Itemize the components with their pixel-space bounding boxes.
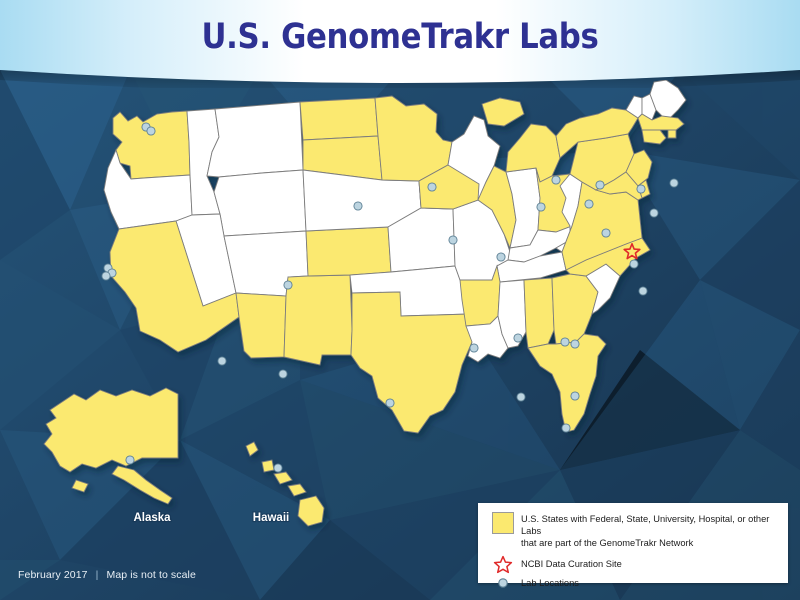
state-rhode-island[interactable] — [668, 130, 676, 138]
lab-location-dot[interactable] — [470, 344, 478, 352]
legend-labs-label: Lab Locations — [518, 576, 579, 590]
lab-location-dot[interactable] — [637, 185, 645, 193]
legend-states-line2: that are part of the GenomeTrakr Network — [521, 538, 693, 548]
footer-caption: February 2017 | Map is not to scale — [18, 569, 196, 581]
lab-location-dot[interactable] — [517, 393, 525, 401]
red-star-icon — [488, 555, 518, 574]
lab-location-dot[interactable] — [552, 176, 560, 184]
label-alaska: Alaska — [133, 512, 171, 524]
state-florida[interactable] — [528, 334, 606, 432]
state-alabama[interactable] — [524, 278, 554, 348]
header-banner: U.S. GenomeTrakr Labs — [0, 0, 800, 88]
lab-location-dot[interactable] — [571, 392, 579, 400]
lab-location-dot[interactable] — [449, 236, 457, 244]
lab-location-dot[interactable] — [428, 183, 436, 191]
lab-location-dot[interactable] — [602, 229, 610, 237]
legend-item-ncbi: NCBI Data Curation Site — [478, 550, 788, 574]
us-map: Alaska Hawaii — [0, 80, 800, 550]
lab-location-dot[interactable] — [596, 181, 604, 189]
state-shapes — [44, 80, 686, 526]
state-north-dakota[interactable] — [300, 98, 378, 140]
lab-location-dot[interactable] — [630, 260, 638, 268]
state-massachusetts[interactable] — [638, 114, 684, 130]
state-colorado[interactable] — [306, 227, 391, 276]
page-title: U.S. GenomeTrakr Labs — [48, 17, 752, 57]
state-arizona[interactable] — [236, 293, 286, 358]
lab-location-dot[interactable] — [571, 340, 579, 348]
state-wyoming[interactable] — [214, 170, 306, 236]
lab-location-dot[interactable] — [639, 287, 647, 295]
label-hawaii: Hawaii — [253, 512, 289, 524]
lab-location-dot[interactable] — [497, 253, 505, 261]
lab-location-dot[interactable] — [561, 338, 569, 346]
legend-item-labs: Lab Locations — [478, 574, 788, 590]
lab-location-dot[interactable] — [218, 357, 226, 365]
footer-separator: | — [91, 569, 104, 581]
lab-location-dot[interactable] — [147, 127, 155, 135]
state-connecticut[interactable] — [642, 130, 666, 144]
lab-location-dot[interactable] — [354, 202, 362, 210]
lab-location-dot[interactable] — [537, 203, 545, 211]
lab-location-dot[interactable] — [670, 179, 678, 187]
lab-location-dot[interactable] — [386, 399, 394, 407]
us-map-svg: Alaska Hawaii — [0, 80, 800, 550]
lab-location-dot[interactable] — [585, 200, 593, 208]
lab-location-dot[interactable] — [102, 272, 110, 280]
lab-location-dot[interactable] — [126, 456, 134, 464]
lab-location-dot[interactable] — [279, 370, 287, 378]
blue-dot-icon — [488, 577, 518, 589]
footer-date: February 2017 — [18, 569, 88, 581]
legend-item-states: U.S. States with Federal, State, Univers… — [478, 503, 788, 550]
lab-location-dot[interactable] — [274, 464, 282, 472]
legend-states-line1: U.S. States with Federal, State, Univers… — [521, 514, 769, 536]
state-washington[interactable] — [113, 111, 190, 179]
state-new-mexico[interactable] — [284, 275, 352, 365]
lab-location-dot[interactable] — [514, 334, 522, 342]
map-infographic: U.S. GenomeTrakr Labs — [0, 0, 800, 600]
legend-yellow-swatch-icon — [488, 512, 518, 534]
state-minnesota[interactable] — [375, 96, 452, 181]
inset-labels: Alaska Hawaii — [133, 512, 289, 524]
state-georgia[interactable] — [552, 274, 598, 344]
lab-location-dot[interactable] — [284, 281, 292, 289]
legend-ncbi-label: NCBI Data Curation Site — [518, 557, 622, 571]
map-legend: U.S. States with Federal, State, Univers… — [478, 503, 788, 583]
lab-location-dot[interactable] — [650, 209, 658, 217]
state-alaska[interactable] — [44, 388, 178, 504]
footer-note: Map is not to scale — [106, 569, 195, 581]
state-montana[interactable] — [207, 102, 303, 177]
lab-location-dot[interactable] — [562, 424, 570, 432]
